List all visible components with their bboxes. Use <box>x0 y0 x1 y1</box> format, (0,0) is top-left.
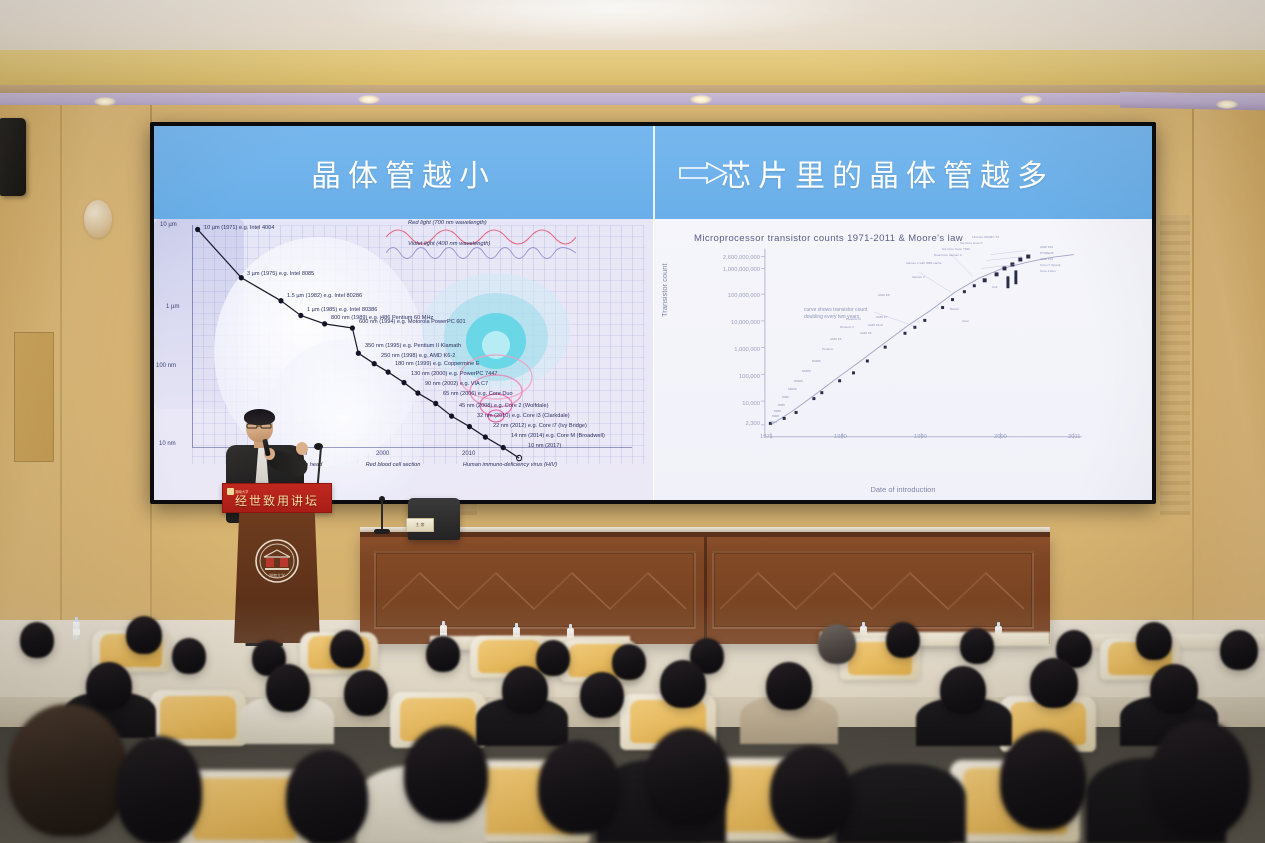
audience-head <box>86 662 132 710</box>
chip-label: 16-Core SPARC T3 <box>972 235 999 239</box>
audience-head <box>1150 664 1198 714</box>
speaker-right-hand <box>296 442 308 455</box>
chip-label: AMD K7 <box>876 315 888 319</box>
chip-label: 8008 <box>772 414 779 418</box>
slide-title-left: 晶体管越小 <box>311 151 496 195</box>
chip-label: 8080 <box>774 409 781 413</box>
scale-caption-hiv: Human immuno-deficiency virus (HIV) <box>454 462 566 469</box>
audience-head <box>20 622 54 658</box>
chip-label: AMD K6 <box>860 331 872 335</box>
wall-speaker <box>0 118 26 196</box>
chip-label: Cell <box>992 285 997 289</box>
slide-title-right: 芯片里的晶体管越多 <box>721 151 1054 195</box>
chip-label: Dual-Core Itanium 2 <box>934 253 962 257</box>
violet-trim-strip-right <box>1120 92 1265 111</box>
chip-label: Core 2 Duo <box>1040 269 1056 273</box>
table-microphone <box>381 500 383 532</box>
audience-head <box>502 666 548 714</box>
audience-head <box>940 666 986 714</box>
logo-mark <box>227 488 234 495</box>
slide-panel-right: Microprocessor transistor counts 1971-20… <box>653 219 1152 500</box>
x-tick-label: 1971 <box>760 434 773 440</box>
ceiling-downlight <box>1216 100 1238 109</box>
table-name-card: 主 席 <box>406 518 434 532</box>
audience-head <box>126 616 162 654</box>
data-point-label: 3 µm (1975) e.g. Intel 8085 <box>247 272 314 278</box>
wall-light-disc <box>84 200 112 238</box>
audience-head <box>1150 720 1250 836</box>
audience-head <box>172 638 206 674</box>
chip-label: 80486 <box>812 359 821 363</box>
data-point-label: 10 µm (1971) e.g. Intel 4004 <box>204 226 274 232</box>
ceiling-cove-band <box>0 50 1265 86</box>
chip-label: Itanium 2 with 9MB cache <box>906 261 941 265</box>
audience-head <box>1220 630 1258 670</box>
ceiling-glow <box>330 0 890 42</box>
data-point-label: 350 nm (1995) e.g. Pentium II Klamath <box>365 344 461 350</box>
audience-head <box>536 640 570 676</box>
slide-header: 晶体管越小 芯片里的晶体管越多 <box>154 126 1152 219</box>
audience-head <box>344 670 388 716</box>
chip-label: POWER6 <box>1040 251 1053 255</box>
chip-label: 68000 <box>788 387 797 391</box>
chip-label: Six-Core Xeon 7400 <box>942 247 970 251</box>
data-point-label: 250 nm (1998) e.g. AMD K6-2 <box>381 354 455 360</box>
data-point-label: 90 nm (2002) e.g. VIA C7 <box>425 382 488 388</box>
moores-law-series <box>654 219 1152 500</box>
slide-header-right: 芯片里的晶体管越多 <box>653 126 1152 219</box>
data-point-label: 10 nm (2017) <box>528 444 561 450</box>
x-tick-label: 2000 <box>994 434 1007 440</box>
wall-seam-left <box>60 105 62 625</box>
audience-head <box>266 664 310 712</box>
audience-head <box>580 672 624 718</box>
ceiling-downlight <box>94 97 116 106</box>
audience-head <box>612 644 646 680</box>
podium-banner: 湖南大学 经世致用讲坛 <box>222 483 332 513</box>
ceiling-downlight <box>358 95 380 104</box>
x-tick-label: 2011 <box>1068 434 1080 440</box>
audience-head <box>286 750 368 843</box>
data-point-label: 14 nm (2014) e.g. Core M (Broadwell) <box>511 434 605 440</box>
audience-head <box>330 630 364 668</box>
chip-label: Core i7 (Quad) <box>1040 263 1060 267</box>
audience-area <box>0 600 1265 843</box>
chip-label: AMD K5 <box>830 337 842 341</box>
x-tick-label: 1980 <box>834 434 847 440</box>
chip-label: Pentium II <box>840 325 854 329</box>
audience-head <box>538 740 620 834</box>
scale-caption-red-blood-cell: Red blood cell section <box>350 462 436 469</box>
data-point-label: 180 nm (1999) e.g. Coppermine E <box>395 362 480 368</box>
chip-label: 8086 <box>782 395 789 399</box>
chip-label: AMD K10 <box>1040 257 1053 261</box>
eyeglasses-icon <box>246 423 273 429</box>
wall-panel-right <box>1192 100 1265 660</box>
chip-label: 4004 <box>770 420 777 424</box>
audience-shoulders <box>836 764 966 843</box>
audience-head <box>766 662 812 710</box>
chip-label: Itanium 2 <box>912 275 925 279</box>
chip-label: 8085 <box>778 403 785 407</box>
chip-label: Atom <box>962 319 969 323</box>
audience-head <box>960 628 994 664</box>
data-point-label: 1 µm (1985) e.g. Intel 80386 <box>307 308 377 314</box>
audience-head <box>886 622 920 658</box>
audience-head <box>660 660 706 708</box>
chip-label: AMD K6-III <box>868 323 883 327</box>
audience-head <box>818 624 856 664</box>
moores-law-chart: Microprocessor transistor counts 1971-20… <box>654 219 1152 500</box>
data-point-label: 22 nm (2012) e.g. Core i7 (Ivy Bridge) <box>493 424 587 430</box>
doubling-annotation: curve shows transistor count doubling ev… <box>804 307 884 321</box>
table-microphone-base <box>374 529 390 534</box>
ceiling <box>0 0 1265 52</box>
university-emblem: 湖南大学 <box>255 539 299 583</box>
chip-label: Six-Core Core i7 <box>960 241 983 245</box>
slide-header-left: 晶体管越小 <box>154 126 653 219</box>
svg-text:湖南大学: 湖南大学 <box>269 572 285 578</box>
lecture-hall-photo: 晶体管越小 芯片里的晶体管越多 <box>0 0 1265 843</box>
logo-text: 湖南大学 <box>235 489 249 494</box>
chip-label: AMD K8 <box>878 293 890 297</box>
chip-label: Pentium III <box>846 317 861 321</box>
arrow-right-outline-icon <box>679 162 727 184</box>
audience-head <box>426 636 460 672</box>
chip-label: 80286 <box>794 379 803 383</box>
data-point-label: 130 nm (2000) e.g. PowerPC 7447 <box>411 372 497 378</box>
audience-head <box>770 746 852 840</box>
audience-head <box>116 736 202 843</box>
data-point-label: 1.5 µm (1982) e.g. Intel 80286 <box>287 294 362 300</box>
chip-label: AMD K10 <box>1040 245 1053 249</box>
wall-door-frame <box>14 332 54 462</box>
ceiling-downlight <box>690 95 712 104</box>
wall-slat-panel <box>1160 215 1190 515</box>
chip-label: Pentium <box>822 347 833 351</box>
university-logo: 湖南大学 <box>227 487 251 495</box>
data-point-label: 65 nm (2006) e.g. Core Duo <box>443 392 513 398</box>
data-point-label: 45 nm (2008) e.g. Core 2 (Wolfdale) <box>459 404 548 410</box>
data-point-label: 600 nm (1994) e.g. Motorola PowerPC 601 <box>359 320 466 326</box>
chip-label: 80386 <box>802 369 811 373</box>
audience-head <box>8 704 128 836</box>
audience-head <box>1030 658 1078 708</box>
audience-head <box>1136 622 1172 660</box>
x-tick-label: 1990 <box>914 434 927 440</box>
chip-label: Barton <box>950 307 959 311</box>
ceiling-downlight <box>1020 95 1042 104</box>
audience-head <box>404 726 488 822</box>
audience-head <box>1000 730 1086 830</box>
audience-head <box>646 728 730 826</box>
data-point-label: 32 nm (2010) e.g. Core i3 (Clarkdale) <box>477 414 570 420</box>
